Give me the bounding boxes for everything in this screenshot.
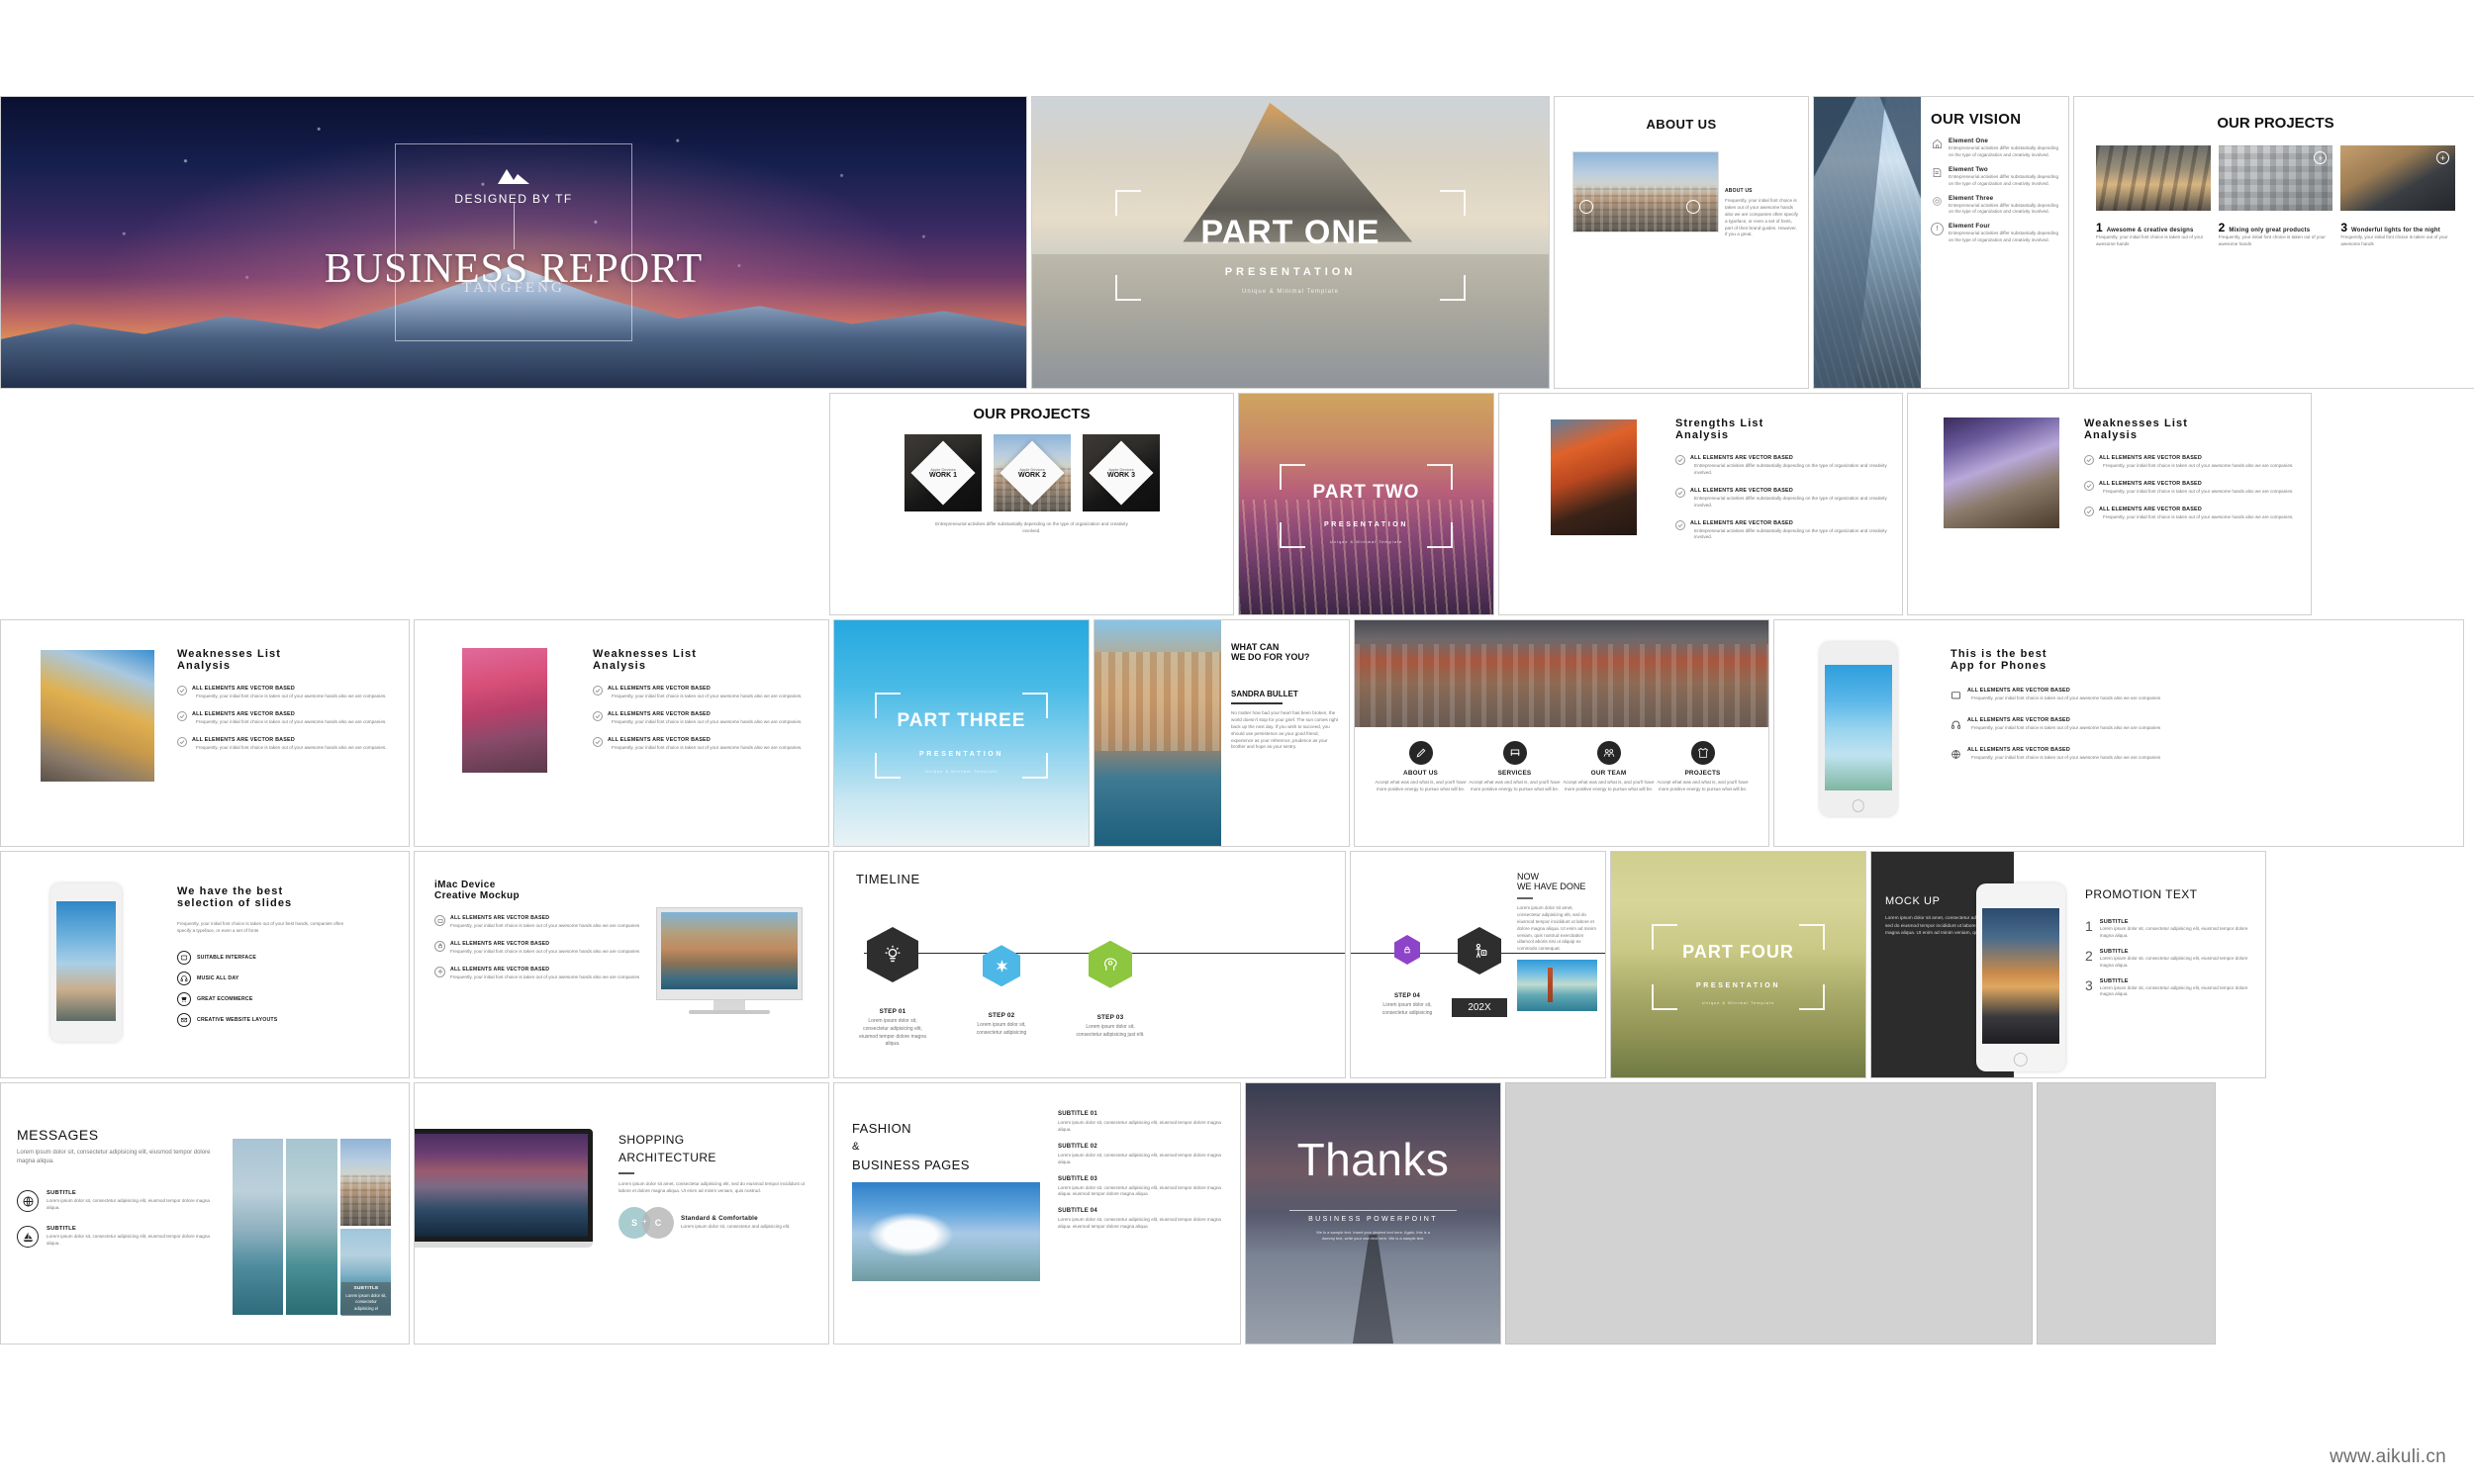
screen-icon: [434, 915, 445, 926]
page-title-line2: selection of slides: [177, 897, 397, 909]
part-title: PART ONE: [1032, 214, 1549, 252]
service-item[interactable]: PROJECTS Accept what was and what is, an…: [1657, 741, 1749, 793]
service-body: Accept what was and what is, and you'll …: [1469, 780, 1561, 793]
timeline-step[interactable]: STEP 03 Lorem ipsum dolor sit, consectet…: [1074, 937, 1147, 1040]
list-item-body: Frequently, your initial font choice is …: [1967, 696, 2160, 702]
list-item-label: ALL ELEMENTS ARE VECTOR BASED: [192, 686, 386, 692]
slide-placeholder-empty: [1505, 1082, 2033, 1345]
feature-label: GREAT ECOMMERCE: [197, 996, 253, 1002]
check-circle-icon: [593, 711, 603, 721]
ipad-mockup: [50, 883, 122, 1042]
strengths-items: ALL ELEMENTS ARE VECTOR BASED Entreprene…: [1675, 455, 1890, 541]
list-item-label: ALL ELEMENTS ARE VECTOR BASED: [1690, 455, 1890, 461]
page-title-line2: App for Phones: [1951, 660, 2445, 672]
list-item[interactable]: 3 SUBTITLE Lorem ipsum dolor sit, consec…: [2085, 978, 2255, 999]
check-circle-icon: [593, 686, 603, 696]
part-title: PART THREE: [834, 710, 1089, 732]
author-label: TANGFENG: [462, 280, 565, 297]
slide-timeline-end-and-now-done[interactable]: STEP 04 Lorem ipsum dolor sit, consectet…: [1350, 851, 1606, 1078]
list-item-label: ALL ELEMENTS ARE VECTOR BASED: [450, 941, 639, 947]
timeline-step[interactable]: STEP 02 Lorem ipsum dolor sit, consectet…: [965, 938, 1038, 1038]
item-label: Wonderful lights for the night: [2351, 228, 2440, 233]
list-item[interactable]: ALL ELEMENTS ARE VECTOR BASED Frequently…: [1951, 747, 2178, 765]
venn-label: Standard & Comfortable: [681, 1215, 790, 1222]
page-title: ABOUT US: [1555, 117, 1808, 132]
body-text: Lorem ipsum dolor sit amet, consectetur …: [1517, 905, 1597, 953]
imac-stand: [714, 1000, 746, 1010]
slide-imac-mockup[interactable]: iMac Device Creative Mockup ALL ELEMENTS…: [414, 851, 829, 1078]
page-title-line2: ARCHITECTURE: [618, 1151, 814, 1164]
screen-icon: [1951, 688, 1961, 705]
item-label: Mixing only great products: [2229, 228, 2310, 233]
laptop-lid: [414, 1129, 593, 1242]
list-item-label: Element Two: [1949, 166, 2060, 173]
service-body: Accept what was and what is, and you'll …: [1563, 780, 1655, 793]
feature-label: SUITABLE INTERFACE: [197, 955, 256, 961]
list-item[interactable]: SUBTITLE 03 Lorem ipsum dolor sit, conse…: [1058, 1176, 1226, 1199]
list-item[interactable]: ALL ELEMENTS ARE VECTOR BASED Frequently…: [2084, 455, 2299, 470]
check-circle-icon: [177, 737, 187, 747]
tile-label: WORK 3: [1107, 472, 1135, 479]
slide-mockup-promotion[interactable]: MOCK UP Lorem ipsum dolor sit amet, cons…: [1870, 851, 2266, 1078]
list-item[interactable]: ALL ELEMENTS ARE VECTOR BASED Frequently…: [593, 686, 816, 700]
home-button: [1853, 799, 1864, 811]
list-item-label: ALL ELEMENTS ARE VECTOR BASED: [450, 915, 639, 921]
part-tagline: Unique & Minimal Template: [1239, 539, 1493, 544]
slide-weaknesses-list-w[interactable]: W Weaknesses List Analysis ALL ELEMENTS …: [1907, 393, 2312, 615]
bay-bridge-photo: [233, 1139, 283, 1315]
body-text: No matter how bad your heart has been br…: [1231, 710, 1341, 751]
globe-icon: [17, 1190, 39, 1212]
list-item[interactable]: ALL ELEMENTS ARE VECTOR BASED Frequently…: [177, 737, 397, 752]
list-item-body: Entrepreneurial activities differ substa…: [1949, 174, 2060, 188]
page-title: Strengths List: [1675, 417, 1890, 429]
item-number: 2: [2219, 221, 2226, 234]
project-tile[interactable]: Apple Devices WORK 1: [904, 434, 982, 511]
globe-icon: [1951, 747, 1961, 765]
page-title-line2: &: [852, 1141, 1040, 1153]
list-item[interactable]: ALL ELEMENTS ARE VECTOR BASED Frequently…: [434, 915, 640, 930]
service-item[interactable]: SERVICES Accept what was and what is, an…: [1469, 741, 1561, 793]
check-circle-icon: [177, 711, 187, 721]
item-body: Frequently, your initial font choice is …: [2219, 234, 2333, 248]
list-item[interactable]: 2 Mixing only great products Frequently,…: [2219, 221, 2333, 248]
page-title: Weaknesses List: [2084, 417, 2299, 429]
iphone-mockup: [1976, 883, 2065, 1071]
list-item-body: Frequently, your initial font choice is …: [2099, 463, 2293, 470]
item-label: SUBTITLE 04: [1058, 1208, 1226, 1214]
slide-what-can-we-do[interactable]: WHAT CAN WE DO FOR YOU? SANDRA BULLET No…: [1094, 619, 1350, 847]
gear-icon: [434, 967, 445, 977]
item-number: 3: [2085, 978, 2093, 999]
item-body: Frequently, your initial font choice is …: [2096, 234, 2211, 248]
skyscraper-photo: [1814, 97, 1921, 388]
person-name: SANDRA BULLET: [1231, 690, 1341, 698]
project-tile[interactable]: Apple Devices WORK 2: [994, 434, 1071, 511]
list-item[interactable]: ALL ELEMENTS ARE VECTOR BASED Frequently…: [177, 686, 397, 700]
money-person-icon: [1458, 927, 1501, 974]
list-item-label: ALL ELEMENTS ARE VECTOR BASED: [1690, 520, 1890, 526]
list-item[interactable]: ! Element Four Entrepreneurial activitie…: [1931, 223, 2060, 244]
item-body: Lorem ipsum dolor sit, consectetur adipi…: [47, 1198, 223, 1212]
part-title: PART FOUR: [1611, 942, 1865, 963]
list-item-label: ALL ELEMENTS ARE VECTOR BASED: [2099, 455, 2293, 461]
tablet-screen: [56, 901, 117, 1022]
gallery-row-1: DESIGNED BY TF BUSINESS REPORT TANGFENG …: [0, 96, 2474, 389]
feature-item[interactable]: GREAT ECOMMERCE: [177, 992, 397, 1006]
photo-overlay: [1246, 1083, 1500, 1344]
page-title: OUR VISION: [1931, 111, 2060, 128]
list-item-body: Entrepreneurial activities differ substa…: [1690, 496, 1890, 510]
item-number: 1: [2085, 919, 2093, 940]
step-label: STEP 04: [1379, 992, 1436, 999]
step-body: Lorem ipsum dolor sit, consectetur adipi…: [1379, 1002, 1436, 1018]
body-text: Lorem ipsum dolor sit amet, consectetur …: [618, 1181, 814, 1195]
divider: [1517, 897, 1533, 899]
page-title: TIMELINE: [856, 872, 920, 886]
part-subtitle: PRESENTATION: [834, 751, 1089, 758]
timeline-step[interactable]: STEP 01 Lorem ipsum dolor sit, consectet…: [856, 927, 929, 1049]
slide-about-us[interactable]: ABOUT US ABOUT US Frequently, your initi…: [1554, 96, 1809, 389]
check-circle-icon: [2084, 455, 2094, 465]
project-photo[interactable]: +: [2340, 145, 2455, 211]
list-item[interactable]: SUBTITLE 01 Lorem ipsum dolor sit, conse…: [1058, 1111, 1226, 1134]
list-item-body: Entrepreneurial activities differ substa…: [1690, 528, 1890, 542]
venn-body: Lorem ipsum dolor sit, consectetur and a…: [681, 1224, 790, 1231]
list-item[interactable]: Element Two Entrepreneurial activities d…: [1931, 166, 2060, 188]
list-item-body: Entrepreneurial activities differ substa…: [1949, 231, 2060, 244]
sparkle-icon: [983, 945, 1020, 986]
slide-strengths-list[interactable]: S Strengths List Analysis ALL ELEMENTS A…: [1498, 393, 1903, 615]
item-body: Lorem ipsum dolor sit, consectetur adipi…: [1058, 1217, 1226, 1231]
venn-diagram: S C +: [618, 1207, 674, 1239]
section-label: ABOUT US: [1725, 188, 1800, 194]
slide-best-selection[interactable]: We have the best selection of slides Fre…: [0, 851, 410, 1078]
list-item[interactable]: 1 SUBTITLE Lorem ipsum dolor sit, consec…: [2085, 919, 2255, 940]
item-label: SUBTITLE: [47, 1226, 223, 1232]
list-item-body: Frequently, your initial font choice is …: [2099, 489, 2293, 496]
page-title: This is the best: [1951, 648, 2445, 660]
venice-photo: [1094, 620, 1221, 846]
item-body: Lorem ipsum dolor sit, consectetur adipi…: [1058, 1153, 1226, 1166]
slide-gallery: DESIGNED BY TF BUSINESS REPORT TANGFENG …: [0, 96, 2474, 1348]
list-item-body: Frequently, your initial font choice is …: [192, 745, 386, 752]
lock-icon: [434, 941, 445, 952]
venn-block: S C + Standard & Comfortable Lorem ipsum…: [618, 1207, 814, 1239]
document-icon: [1931, 166, 1944, 179]
feature-label: CREATIVE WEBSITE LAYOUTS: [197, 1017, 277, 1023]
slide-best-app-phones[interactable]: This is the best App for Phones ALL ELEM…: [1773, 619, 2464, 847]
list-item-body: Frequently, your initial font choice is …: [608, 694, 802, 700]
list-item[interactable]: ALL ELEMENTS ARE VECTOR BASED Frequently…: [2084, 481, 2299, 496]
list-item-body: Frequently, your initial font choice is …: [450, 923, 639, 930]
service-item[interactable]: OUR TEAM Accept what was and what is, an…: [1563, 741, 1655, 793]
page-title: Weaknesses List: [177, 648, 397, 660]
check-circle-icon: [2084, 481, 2094, 491]
item-body: Lorem ipsum dolor sit, consectetur adipi…: [1058, 1120, 1226, 1134]
part-subtitle: PRESENTATION: [1239, 521, 1493, 528]
item-label: SUBTITLE 01: [1058, 1111, 1226, 1117]
item-label: SUBTITLE: [47, 1190, 223, 1196]
page-title: We have the best: [177, 885, 397, 897]
list-item[interactable]: ALL ELEMENTS ARE VECTOR BASED Frequently…: [2084, 507, 2299, 521]
page-title: NOW: [1517, 872, 1597, 881]
letter-art-s: S: [1551, 419, 1637, 535]
slide-timeline[interactable]: TIMELINE STEP 01 Lorem ipsum dolor sit, …: [833, 851, 1346, 1078]
tile-label: WORK 1: [929, 472, 957, 479]
page-title-line2: WE HAVE DONE: [1517, 881, 1597, 891]
caption-label: SUBTITLE: [345, 1286, 387, 1291]
service-body: Accept what was and what is, and you'll …: [1657, 780, 1749, 793]
plus-icon[interactable]: +: [2436, 151, 2449, 164]
list-item[interactable]: 1 Awesome & creative designs Frequently,…: [2096, 221, 2211, 248]
slide-part-three[interactable]: PART THREE PRESENTATION Unique & Minimal…: [833, 619, 1090, 847]
gallery-row-4: We have the best selection of slides Fre…: [0, 851, 2474, 1078]
page-title: Weaknesses List: [593, 648, 816, 660]
step-label: STEP 01: [856, 1008, 929, 1015]
list-item-body: Frequently, your initial font choice is …: [192, 719, 386, 726]
slide-fashion-business-pages[interactable]: FASHION & BUSINESS PAGES SUBTITLE 01 Lor…: [833, 1082, 1241, 1345]
body-text: Frequently, your initial font choice is …: [1725, 198, 1800, 238]
check-circle-icon: [1675, 488, 1685, 498]
list-item[interactable]: ALL ELEMENTS ARE VECTOR BASED Entreprene…: [1675, 488, 1890, 510]
statue-of-liberty-photo: [852, 1182, 1040, 1281]
slide-placeholder-empty: [2037, 1082, 2216, 1345]
slide-our-projects-diamonds[interactable]: OUR PROJECTS Apple Devices WORK 1: [829, 393, 1234, 615]
skyline-photo: [340, 1139, 391, 1226]
list-item[interactable]: ALL ELEMENTS ARE VECTOR BASED Frequently…: [1951, 717, 2178, 735]
item-number: 2: [2085, 949, 2093, 970]
slide-our-projects-photos[interactable]: OUR PROJECTS + + 1 Awesome & creative de…: [2073, 96, 2474, 389]
step-body: Lorem ipsum dolor sit, consectetur adipi…: [965, 1022, 1038, 1038]
check-circle-icon: [1675, 520, 1685, 530]
year-badge: 202X: [1452, 998, 1507, 1017]
slide-our-vision[interactable]: OUR VISION Element One Entrepreneurial a…: [1813, 96, 2069, 389]
service-item[interactable]: ABOUT US Accept what was and what is, an…: [1375, 741, 1467, 793]
list-item-label: Element Four: [1949, 223, 2060, 230]
lightbulb-icon: [867, 927, 918, 982]
list-item[interactable]: ALL ELEMENTS ARE VECTOR BASED Frequently…: [593, 737, 816, 752]
timeline-step[interactable]: STEP 04 Lorem ipsum dolor sit, consectet…: [1379, 935, 1436, 1018]
collage-caption: SUBTITLE Lorem ipsum dolor sit, consecte…: [341, 1282, 391, 1316]
list-item-body: Frequently, your initial font choice is …: [192, 694, 386, 700]
page-title: PROMOTION TEXT: [2085, 887, 2255, 901]
list-item-label: ALL ELEMENTS ARE VECTOR BASED: [1690, 488, 1890, 494]
list-item-body: Entrepreneurial activities differ substa…: [1949, 145, 2060, 159]
check-circle-icon: [1675, 455, 1685, 465]
part-title: PART TWO: [1239, 482, 1493, 504]
list-item-label: ALL ELEMENTS ARE VECTOR BASED: [1967, 747, 2160, 753]
body-text: We is a sample text. Insert your desired…: [1309, 1230, 1437, 1243]
slide-thanks[interactable]: Thanks BUSINESS POWERPOINT We is a sampl…: [1245, 1082, 1501, 1345]
target-icon: [1931, 195, 1944, 208]
divider: [618, 1172, 634, 1174]
laptop-deck: [414, 1242, 593, 1248]
list-item-label: ALL ELEMENTS ARE VECTOR BASED: [192, 737, 386, 743]
list-item-label: ALL ELEMENTS ARE VECTOR BASED: [192, 711, 386, 717]
letter-art-w: W: [1944, 417, 2059, 528]
item-body: Lorem ipsum dolor sit, consectetur adipi…: [2100, 956, 2255, 970]
list-item[interactable]: ALL ELEMENTS ARE VECTOR BASED Frequently…: [434, 941, 640, 956]
people-icon: [1597, 741, 1621, 765]
phone-screen: [1825, 665, 1891, 790]
macbook-mockup: [414, 1129, 593, 1248]
slide-business-report-cover[interactable]: DESIGNED BY TF BUSINESS REPORT TANGFENG: [0, 96, 1027, 389]
page-title: WHAT CAN: [1231, 642, 1341, 652]
alert-icon: !: [1931, 223, 1944, 235]
part-subtitle: PRESENTATION: [1611, 982, 1865, 989]
divider: [1231, 702, 1283, 704]
page-title: SHOPPING: [618, 1133, 814, 1147]
city-photo: [1572, 151, 1719, 232]
project-photo[interactable]: [2096, 145, 2211, 211]
list-item-body: Frequently, your initial font choice is …: [1967, 755, 2160, 762]
letter-art-o: O: [41, 650, 154, 782]
bracket-frame: [1280, 464, 1453, 548]
title-divider: [514, 203, 515, 249]
list-item-body: Entrepreneurial activities differ substa…: [1690, 463, 1890, 477]
list-item[interactable]: ALL ELEMENTS ARE VECTOR BASED Frequently…: [1951, 688, 2178, 705]
page-title-line2: Analysis: [177, 660, 397, 672]
bracket-frame: [1652, 924, 1825, 1010]
home-button: [2014, 1053, 2028, 1067]
service-label: SERVICES: [1469, 770, 1561, 777]
list-item[interactable]: SUBTITLE Lorem ipsum dolor sit, consecte…: [17, 1226, 223, 1248]
list-item-body: Frequently, your initial font choice is …: [1967, 725, 2160, 732]
body-text: Frequently, your initial font choice is …: [177, 921, 345, 935]
service-body: Accept what was and what is, and you'll …: [1375, 780, 1467, 793]
home-icon: [1931, 138, 1944, 150]
item-body: Frequently, your initial font choice is …: [2340, 234, 2455, 248]
list-item[interactable]: Element Three Entrepreneurial activities…: [1931, 195, 2060, 217]
slide-weaknesses-list-o[interactable]: O Weaknesses List Analysis ALL ELEMENTS …: [0, 619, 410, 847]
monitor-icon: [177, 951, 191, 965]
list-item[interactable]: SUBTITLE Lorem ipsum dolor sit, consecte…: [17, 1190, 223, 1212]
list-item[interactable]: ALL ELEMENTS ARE VECTOR BASED Frequently…: [434, 967, 640, 981]
project-photo[interactable]: +: [2219, 145, 2333, 211]
list-item-label: ALL ELEMENTS ARE VECTOR BASED: [608, 686, 802, 692]
list-item[interactable]: SUBTITLE 04 Lorem ipsum dolor sit, conse…: [1058, 1208, 1226, 1231]
feature-item[interactable]: MUSIC ALL DAY: [177, 972, 397, 985]
part-tagline: Unique & Minimal Template: [1611, 1000, 1865, 1005]
list-item-label: ALL ELEMENTS ARE VECTOR BASED: [1967, 717, 2160, 723]
item-body: Lorem ipsum dolor sit, consectetur adipi…: [47, 1234, 223, 1248]
slide-part-two[interactable]: PART TWO PRESENTATION Unique & Minimal T…: [1238, 393, 1494, 615]
tile-label: WORK 2: [1018, 472, 1046, 479]
imac-base: [689, 1010, 771, 1014]
part-tagline: Unique & Minimal Template: [834, 769, 1089, 774]
watermark: www.aikuli.cn: [2330, 1446, 2446, 1468]
list-item-body: Frequently, your initial font choice is …: [608, 719, 802, 726]
page-title-line3: BUSINESS PAGES: [852, 1158, 1040, 1172]
slide-part-one[interactable]: PART ONE PRESENTATION Unique & Minimal T…: [1031, 96, 1550, 389]
divider: [1289, 1210, 1457, 1211]
skyline-photo: [286, 1139, 336, 1315]
shirt-icon: [1691, 741, 1715, 765]
item-number: 3: [2340, 221, 2347, 234]
list-item-label: Element One: [1949, 138, 2060, 144]
item-body: Lorem ipsum dolor sit, consectetur adipi…: [1058, 1185, 1226, 1199]
golden-gate-photo: [1517, 960, 1597, 1011]
headphones-icon: [177, 972, 191, 985]
list-item[interactable]: ALL ELEMENTS ARE VECTOR BASED Entreprene…: [1675, 520, 1890, 542]
list-item-body: Frequently, your initial font choice is …: [450, 974, 639, 981]
page-title-line2: WE DO FOR YOU?: [1231, 652, 1341, 662]
slide-part-four[interactable]: PART FOUR PRESENTATION Unique & Minimal …: [1610, 851, 1866, 1078]
laptop-screen: [414, 1134, 588, 1237]
imac-mockup: [656, 907, 803, 1014]
service-label: ABOUT US: [1375, 770, 1467, 777]
iphone-mockup: [1820, 642, 1897, 816]
list-item[interactable]: ALL ELEMENTS ARE VECTOR BASED Frequently…: [593, 711, 816, 726]
item-label: SUBTITLE 03: [1058, 1176, 1226, 1182]
desk-icon: [1503, 741, 1527, 765]
feature-item[interactable]: CREATIVE WEBSITE LAYOUTS: [177, 1013, 397, 1027]
slide-messages[interactable]: MESSAGES Lorem ipsum dolor sit, consecte…: [0, 1082, 410, 1345]
head-gear-icon: [1089, 941, 1132, 988]
phone-screen: [1982, 908, 2058, 1044]
list-item-label: ALL ELEMENTS ARE VECTOR BASED: [608, 737, 802, 743]
subtitle: BUSINESS POWERPOINT: [1246, 1216, 1500, 1223]
sailboat-icon: [17, 1226, 39, 1248]
list-item[interactable]: 2 SUBTITLE Lorem ipsum dolor sit, consec…: [2085, 949, 2255, 970]
list-item[interactable]: Element One Entrepreneurial activities d…: [1931, 138, 2060, 159]
caption-body: Lorem ipsum dolor sit, consectetur adipi…: [345, 1293, 387, 1312]
page-title-line2: Analysis: [1675, 429, 1890, 441]
village-photo: [1355, 620, 1768, 727]
slide-shopping-architecture[interactable]: SHOPPING ARCHITECTURE Lorem ipsum dolor …: [414, 1082, 829, 1345]
gallery-row-5: MESSAGES Lorem ipsum dolor sit, consecte…: [0, 1082, 2474, 1345]
list-item[interactable]: ALL ELEMENTS ARE VECTOR BASED Entreprene…: [1675, 455, 1890, 477]
step-body: Lorem ipsum dolor sit, consectetur adipi…: [1074, 1024, 1147, 1040]
list-item-body: Entrepreneurial activities differ substa…: [1949, 203, 2060, 217]
list-item[interactable]: ALL ELEMENTS ARE VECTOR BASED Frequently…: [177, 711, 397, 726]
list-item-label: ALL ELEMENTS ARE VECTOR BASED: [450, 967, 639, 973]
page-title: OUR PROJECTS: [2074, 115, 2474, 132]
hotspot-marker: [1579, 200, 1593, 214]
footer-text: Entrepreneurial activities differ substa…: [830, 511, 1233, 535]
page-title-line2: Analysis: [2084, 429, 2299, 441]
list-item[interactable]: 3 Wonderful lights for the night Frequen…: [2340, 221, 2455, 248]
page-title: MESSAGES: [17, 1127, 223, 1143]
item-label: SUBTITLE: [2100, 949, 2255, 955]
list-item-body: Frequently, your initial font choice is …: [608, 745, 802, 752]
item-label: SUBTITLE 02: [1058, 1144, 1226, 1150]
feature-label: MUSIC ALL DAY: [197, 975, 238, 981]
list-item-label: ALL ELEMENTS ARE VECTOR BASED: [2099, 507, 2293, 512]
hotspot-marker: [1686, 200, 1700, 214]
list-item[interactable]: SUBTITLE 02 Lorem ipsum dolor sit, conse…: [1058, 1144, 1226, 1166]
project-tile[interactable]: Apple Devices WORK 3: [1083, 434, 1160, 511]
cart-icon: [177, 992, 191, 1006]
check-circle-icon: [177, 686, 187, 696]
list-item-body: Frequently, your initial font choice is …: [2099, 514, 2293, 521]
timeline-end[interactable]: 202X: [1452, 927, 1507, 1017]
check-circle-icon: [593, 737, 603, 747]
item-label: SUBTITLE: [2100, 919, 2255, 925]
part-subtitle: PRESENTATION: [1032, 266, 1549, 278]
item-body: Lorem ipsum dolor sit, consectetur adipi…: [2100, 985, 2255, 999]
mountain-icon: [496, 167, 531, 190]
page-title: iMac Device: [434, 880, 640, 890]
list-item-label: Element Three: [1949, 195, 2060, 202]
feature-item[interactable]: SUITABLE INTERFACE: [177, 951, 397, 965]
vision-list: Element One Entrepreneurial activities d…: [1931, 138, 2060, 244]
list-item-label: ALL ELEMENTS ARE VECTOR BASED: [608, 711, 802, 717]
slide-four-services[interactable]: ABOUT US Accept what was and what is, an…: [1354, 619, 1769, 847]
letter-art-t: T: [462, 648, 547, 773]
slide-weaknesses-list-t[interactable]: T Weaknesses List Analysis ALL ELEMENTS …: [414, 619, 829, 847]
